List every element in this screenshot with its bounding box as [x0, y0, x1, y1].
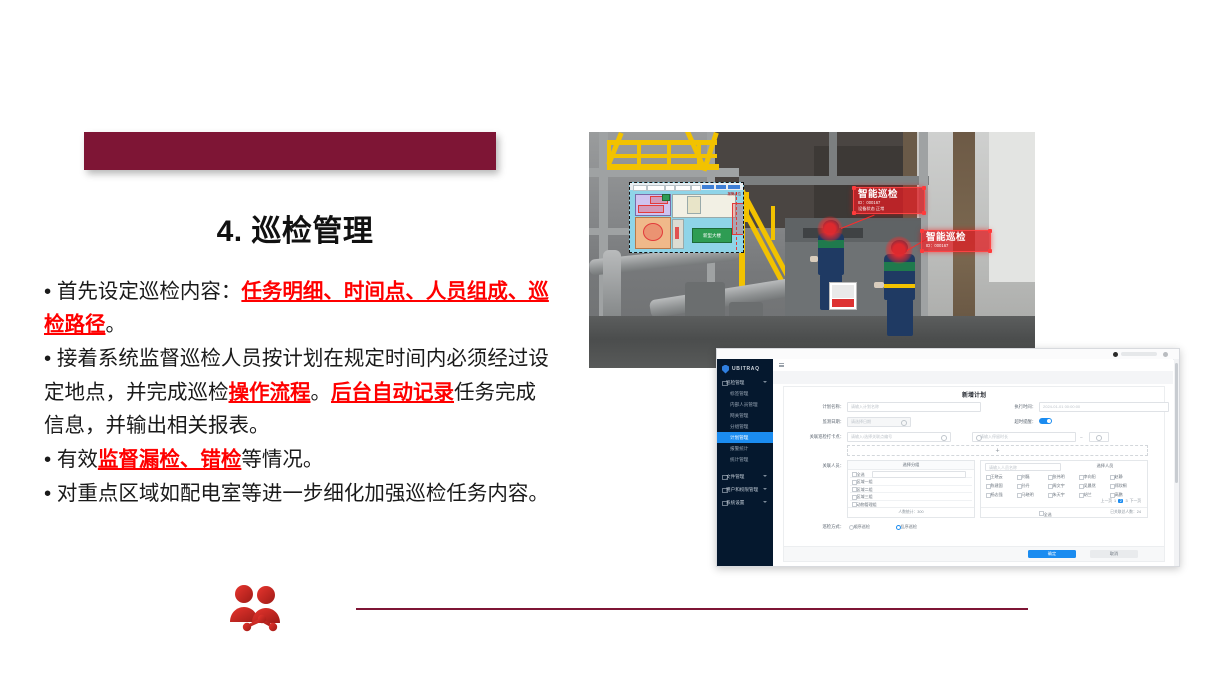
field-exec-time[interactable]: 2024-01-01 00:00:00	[1039, 402, 1169, 412]
field-label-checkpoint: 关联巡检打卡点：	[790, 434, 844, 440]
calendar-icon	[901, 420, 907, 426]
chevron-down-icon	[763, 488, 767, 490]
people-pager[interactable]: 上一页123下一页	[1100, 499, 1142, 504]
pager-3[interactable]: 3	[1125, 499, 1127, 503]
body-text-block: • 首先设定巡检内容：任务明细、时间点、人员组成、巡检路径。 • 接着系统监督巡…	[44, 275, 556, 511]
people-panel-header: 选择人员	[1067, 463, 1143, 469]
field-monitor-date-placeholder: 请选择日期	[851, 419, 871, 425]
person-name: 陈建国	[991, 483, 1003, 489]
bullet-2: • 接着系统监督巡检人员按计划在规定时间内必须经过设定地点，并完成巡检操作流程。…	[44, 342, 556, 442]
sidebar-item-label: 计划管理	[730, 432, 748, 443]
field-stay-duration[interactable]: 请输入停留时长	[972, 432, 1076, 442]
sidebar-item-label: 统计管理	[730, 454, 748, 465]
page-title: 4. 巡检管理	[40, 206, 550, 250]
pager-1[interactable]: 1	[1114, 499, 1116, 503]
dialog-title: 新增计划	[784, 390, 1164, 399]
bullet-3-part-1: 监督漏检、错检	[98, 448, 242, 471]
timeout-alert-switch[interactable]	[1039, 418, 1052, 425]
sidebar-item-9[interactable]: 用户和权限管理	[717, 484, 773, 495]
bullet-4: • 对重点区域如配电室等进一步细化加强巡检任务内容。	[44, 477, 556, 510]
ar-badge-2[interactable]: 智能巡检 ID：000167	[921, 230, 991, 252]
person-name: 高鹏	[1115, 492, 1123, 498]
select-all-label: 全选	[1044, 510, 1052, 519]
sidebar-item-label: 标签管理	[730, 388, 748, 399]
sidebar-item-4[interactable]: 分组管理	[717, 421, 773, 432]
title-accent-bar	[84, 132, 496, 170]
person-name: 孙丹	[1022, 483, 1030, 489]
patrol-mode-option-0-label: 顺序巡检	[854, 524, 870, 530]
sidebar-item-3[interactable]: 网关管理	[717, 410, 773, 421]
clock-icon	[976, 435, 982, 441]
brand-name: UBITRAQ	[732, 366, 760, 372]
person-name: 周文宇	[1053, 483, 1065, 489]
bullet-1: • 首先设定巡检内容：任务明细、时间点、人员组成、巡检路径。	[44, 275, 556, 341]
sidebar-item-label: 内部人员管理	[730, 399, 758, 410]
chevron-down-icon	[763, 475, 767, 477]
chevron-down-icon	[763, 501, 767, 503]
person-name: 李向阳	[1084, 474, 1096, 480]
group-panel-footer: 人数统计：300	[848, 507, 974, 517]
ar-ring-1	[817, 216, 843, 242]
page-scrollbar[interactable]	[1174, 359, 1179, 566]
field-plan-name[interactable]: 请输入计划名称	[847, 402, 981, 412]
group-panel-header: 选择分组	[848, 461, 974, 470]
bullet-1-part-2: 。	[106, 313, 127, 336]
ar-badge-1[interactable]: 智能巡检 ID：000167 设备状态 正常	[853, 187, 925, 214]
ar-red-label: 报警点位	[727, 191, 741, 196]
sidebar-item-label: 文件管理	[726, 471, 744, 482]
app-sidebar: UBITRAQ 巡检管理标签管理内部人员管理网关管理分组管理计划管理报警统计统计…	[717, 359, 773, 566]
plus-circle-icon	[1096, 435, 1102, 441]
sidebar-item-label: 报警统计	[730, 443, 748, 454]
field-label-monitor-date: 监测日期：	[802, 419, 844, 425]
person-name: 赵静	[1115, 474, 1123, 480]
field-extra[interactable]	[1089, 432, 1109, 442]
hamburger-icon[interactable]	[779, 363, 784, 367]
ar-green-block-label: 新型大楼	[692, 228, 732, 243]
new-plan-dialog: 新增计划 计划名称： 请输入计划名称 执行时间： 2024-01-01 00:0…	[783, 386, 1165, 562]
app-main: 新增计划 计划名称： 请输入计划名称 执行时间： 2024-01-01 00:0…	[773, 359, 1173, 566]
people-panel: 请输入人员名称 选择人员 王晓云刘磊张伟明李向阳赵静陈建国孙丹周文宇吴晨然郑欣桐…	[980, 460, 1148, 518]
field-checkpoint-placeholder: 请输入/选择关联点编号	[851, 434, 892, 440]
cancel-button[interactable]: 取消	[1090, 550, 1138, 558]
patrol-mode-option-1-label: 乱序巡检	[901, 524, 917, 530]
footer-rule	[356, 608, 1028, 610]
bullet-4-part-0: • 对重点区域如配电室等进一步细化加强巡检任务内容。	[44, 482, 549, 505]
people-search-placeholder: 请输入人员名称	[989, 465, 1017, 471]
person-section-label: 关联人员：	[802, 463, 844, 469]
chevron-down-icon	[763, 381, 767, 383]
bullet-3-part-0: • 有效	[44, 448, 98, 471]
sidebar-item-label: 用户和权限管理	[726, 484, 758, 495]
account-name-pill[interactable]	[1121, 352, 1157, 356]
add-checkpoint-row[interactable]: +	[847, 445, 1148, 456]
patrol-mode-label: 巡检方式：	[802, 524, 844, 530]
sidebar-item-5[interactable]: 计划管理	[717, 432, 773, 443]
field-label-timeout-alert: 超时提醒：	[989, 419, 1036, 425]
field-monitor-date[interactable]: 请选择日期	[847, 417, 911, 427]
gear-icon[interactable]	[1163, 352, 1168, 357]
bullet-3: • 有效监督漏检、错检等情况。	[44, 443, 556, 476]
breadcrumb-bar	[773, 371, 1173, 384]
sidebar-item-2[interactable]: 内部人员管理	[717, 399, 773, 410]
person-name: 张伟明	[1053, 474, 1065, 480]
pager-2[interactable]: 2	[1118, 499, 1123, 503]
slide-root: 4. 巡检管理 • 首先设定巡检内容：任务明细、时间点、人员组成、巡检路径。 •…	[0, 0, 1205, 679]
ar-badge-2-id: ID：000167	[926, 243, 986, 249]
field-plan-name-placeholder: 请输入计划名称	[851, 404, 879, 410]
add-row-plus-label: +	[995, 447, 999, 454]
people-search-input[interactable]: 请输入人员名称	[985, 463, 1061, 471]
person-name: 吴晨然	[1084, 483, 1096, 489]
account-avatar[interactable]	[1113, 352, 1118, 357]
person-name: 朱天宇	[1053, 492, 1065, 498]
sidebar-item-label: 系统设置	[726, 497, 744, 508]
pager-上一页[interactable]: 上一页	[1101, 499, 1112, 503]
bullet-2-part-1: 操作流程	[229, 381, 311, 404]
brand-logo: UBITRAQ	[722, 364, 768, 374]
group-panel: 选择分组 全选区域一组区域二组区域三组动物管理组 人数统计：300	[847, 460, 975, 518]
safety-sign	[829, 282, 857, 310]
sidebar-item-label: 网关管理	[730, 410, 748, 421]
field-label-plan-name: 计划名称：	[802, 404, 844, 410]
search-icon	[941, 435, 947, 441]
shield-icon	[722, 365, 729, 374]
person-name: 杨志强	[991, 492, 1003, 498]
ar-map-overlay: 新型大楼 报警点位	[629, 182, 744, 253]
field-stay-duration-placeholder: 请输入停留时长	[980, 434, 1008, 440]
sidebar-item-10[interactable]: 系统设置	[717, 497, 773, 508]
people-share-icon	[228, 582, 286, 634]
person-name: 刘磊	[1022, 474, 1030, 480]
person-name: 马晓明	[1022, 492, 1034, 498]
inspection-photo: 新型大楼 报警点位 智能巡检 ID：000167 设备状态 正常 智能巡检 ID…	[589, 132, 1035, 368]
ar-badge-1-status: 设备状态 正常	[858, 206, 920, 212]
field-exec-time-placeholder: 2024-01-01 00:00:00	[1043, 404, 1080, 409]
person-name: 王晓云	[991, 474, 1003, 480]
sidebar-item-1[interactable]: 标签管理	[717, 388, 773, 399]
person-name: 郑欣桐	[1115, 483, 1127, 489]
sidebar-item-6[interactable]: 报警统计	[717, 443, 773, 454]
ubitraq-app-screenshot: UBITRAQ 巡检管理标签管理内部人员管理网关管理分组管理计划管理报警统计统计…	[716, 348, 1180, 567]
people-panel-footer: 已关联总人数：24	[1110, 508, 1141, 517]
sidebar-item-7[interactable]: 统计管理	[717, 454, 773, 465]
bullet-1-part-0: • 首先设定巡检内容：	[44, 280, 241, 303]
sidebar-item-8[interactable]: 文件管理	[717, 471, 773, 482]
dialog-footer: 确定 取消	[784, 546, 1164, 561]
pager-下一页[interactable]: 下一页	[1130, 499, 1141, 503]
field-label-exec-time: 执行时间：	[994, 404, 1036, 410]
bullet-2-part-3: 后台自动记录	[331, 381, 454, 404]
sidebar-item-label: 分组管理	[730, 421, 748, 432]
sidebar-item-label: 巡检管理	[726, 377, 744, 388]
sidebar-item-0[interactable]: 巡检管理	[717, 377, 773, 388]
confirm-button[interactable]: 确定	[1028, 550, 1076, 558]
remove-row-icon[interactable]: −	[1080, 435, 1083, 441]
ar-badge-1-title: 智能巡检	[858, 189, 920, 200]
person-name: 胡兰	[1084, 492, 1092, 498]
ar-badge-2-title: 智能巡检	[926, 232, 986, 243]
bullet-3-part-2: 等情况。	[241, 448, 323, 471]
field-checkpoint[interactable]: 请输入/选择关联点编号	[847, 432, 951, 442]
bullet-2-part-2: 。	[311, 381, 332, 404]
